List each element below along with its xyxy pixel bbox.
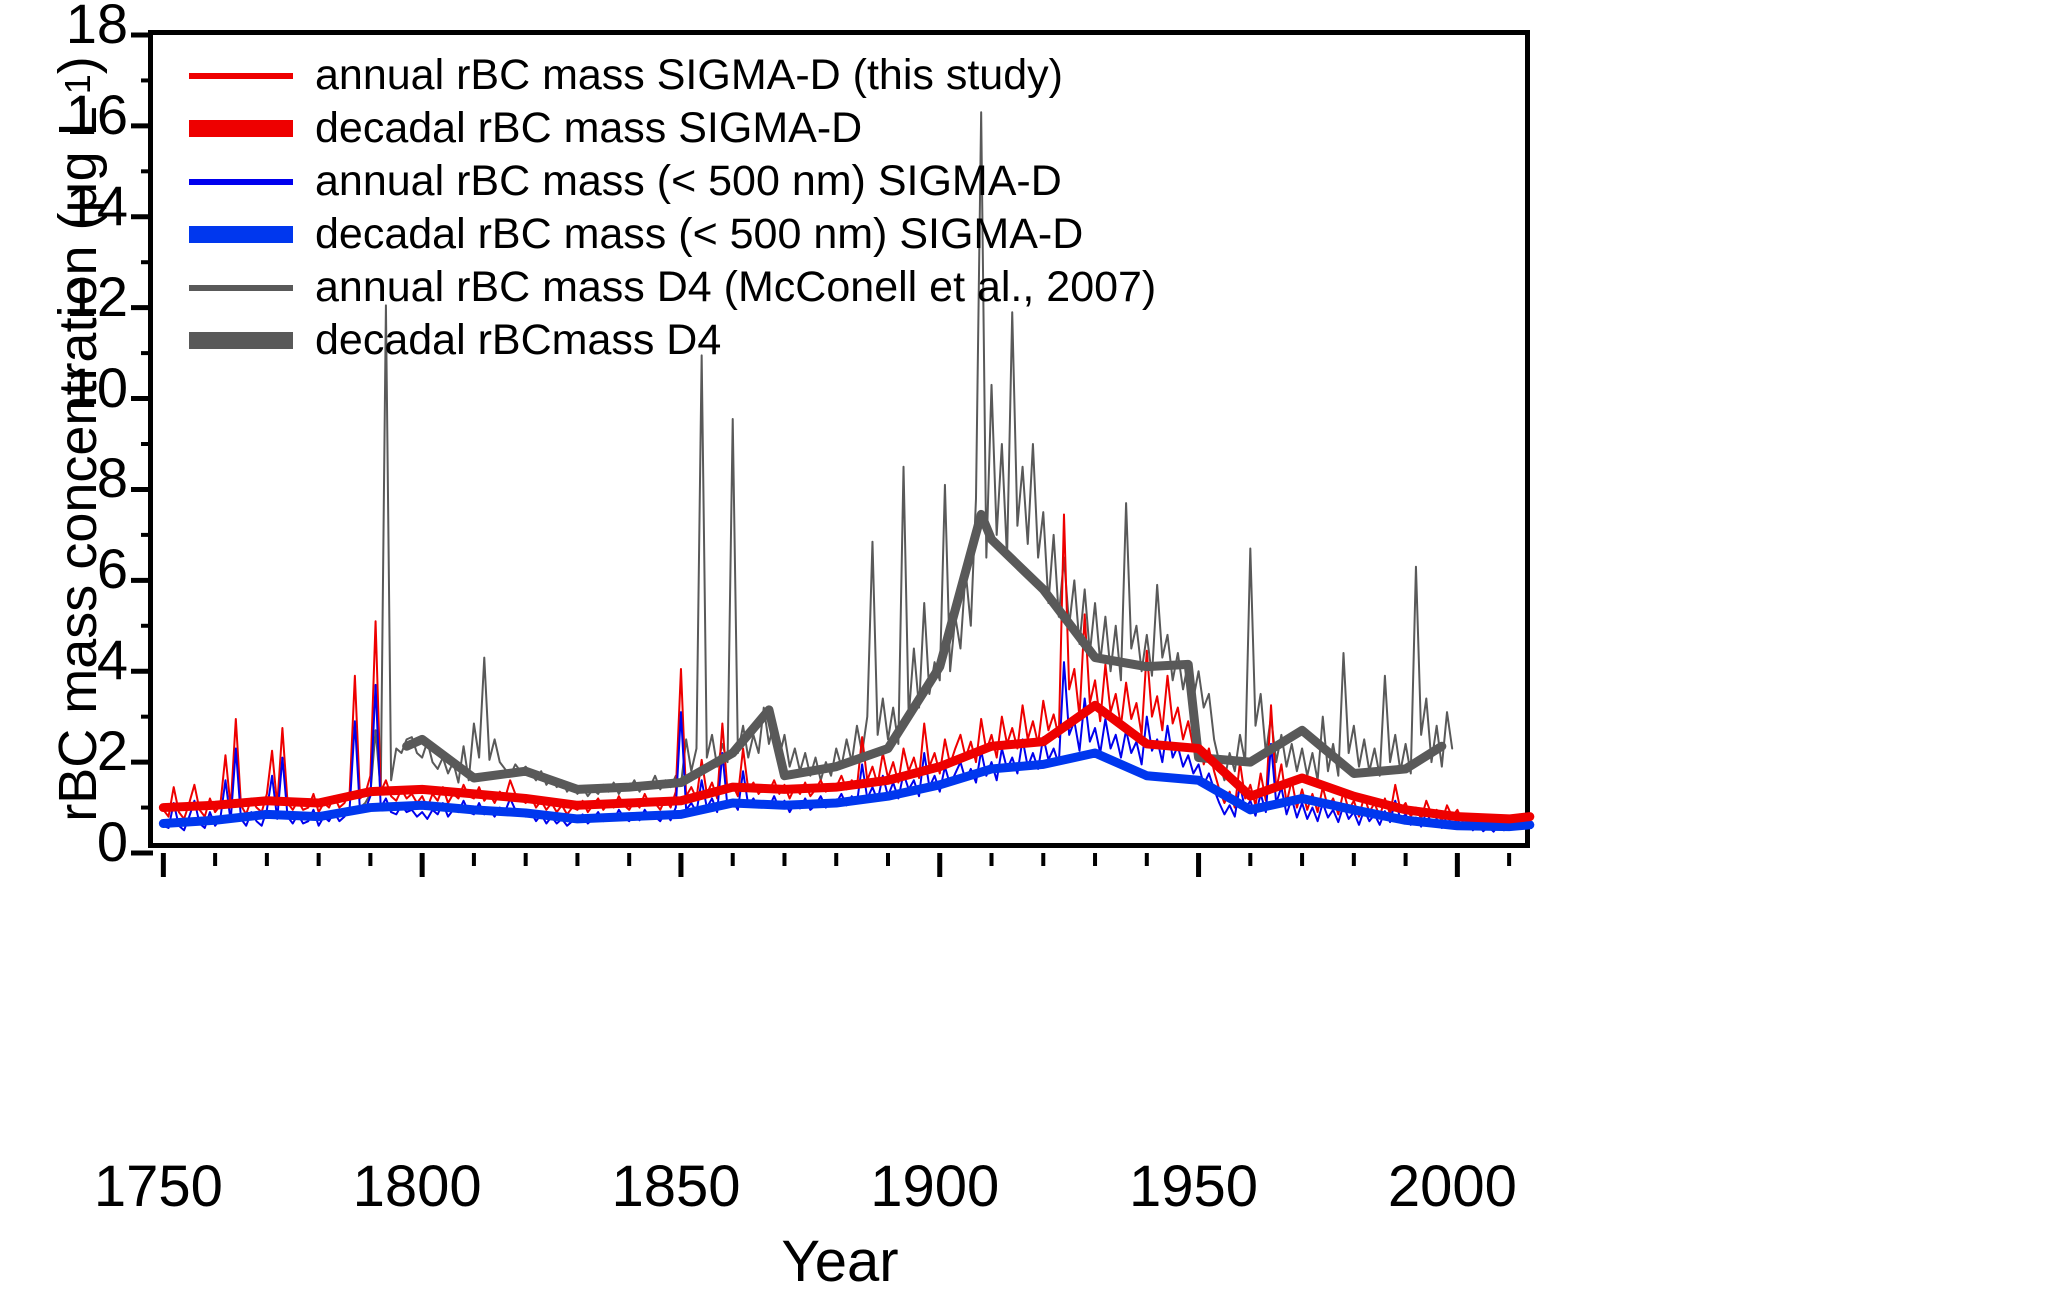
legend-color-swatch <box>189 285 293 291</box>
x-axis-title: Year <box>0 1228 1680 1295</box>
legend-item[interactable]: annual rBC mass SIGMA-D (this study) <box>189 49 1369 102</box>
x-axis-tick-label: 1750 <box>48 1158 268 1216</box>
series-line <box>407 514 1442 789</box>
y-axis-tick-label: 12 <box>8 269 128 325</box>
x-axis-tick-label: 2000 <box>1342 1158 1562 1216</box>
series-line <box>163 514 1529 825</box>
figure-rbc-timeseries: rBC mass concentration (μg L-1) 18161412… <box>0 0 2067 1314</box>
y-axis-tick-labels: 181614121086420 <box>0 0 128 1314</box>
legend-item[interactable]: annual rBC mass (< 500 nm) SIGMA-D <box>189 155 1369 208</box>
plot-area: annual rBC mass SIGMA-D (this study)deca… <box>148 30 1530 848</box>
legend-item-label: annual rBC mass D4 (McConell et al., 200… <box>315 266 1156 309</box>
legend-item-label: decadal rBC mass (< 500 nm) SIGMA-D <box>315 213 1083 256</box>
legend-color-swatch <box>189 332 293 349</box>
legend-item[interactable]: decadal rBCmass D4 <box>189 314 1369 367</box>
y-axis-tick-label: 6 <box>8 541 128 597</box>
legend-item-label: decadal rBCmass D4 <box>315 319 721 362</box>
y-axis-tick-label: 0 <box>8 814 128 870</box>
x-axis-ticks <box>163 853 1509 877</box>
y-axis-tick-label: 14 <box>8 178 128 234</box>
y-axis-tick-label: 16 <box>8 87 128 143</box>
legend-item[interactable]: decadal rBC mass (< 500 nm) SIGMA-D <box>189 208 1369 261</box>
y-axis-tick-label: 2 <box>8 723 128 779</box>
y-axis-tick-label: 10 <box>8 360 128 416</box>
legend-item-label: decadal rBC mass SIGMA-D <box>315 107 862 150</box>
y-axis-tick-label: 4 <box>8 632 128 688</box>
legend-item[interactable]: annual rBC mass D4 (McConell et al., 200… <box>189 261 1369 314</box>
legend-color-swatch <box>189 73 293 79</box>
x-axis-tick-label: 1950 <box>1084 1158 1304 1216</box>
legend-color-swatch <box>189 226 293 243</box>
y-axis-ticks <box>131 35 153 853</box>
legend-item[interactable]: decadal rBC mass SIGMA-D <box>189 102 1369 155</box>
legend-item-label: annual rBC mass SIGMA-D (this study) <box>315 54 1063 97</box>
legend-color-swatch <box>189 120 293 137</box>
x-axis-tick-label: 1900 <box>825 1158 1045 1216</box>
legend-color-swatch <box>189 179 293 185</box>
y-axis-tick-label: 8 <box>8 450 128 506</box>
legend: annual rBC mass SIGMA-D (this study)deca… <box>189 49 1369 367</box>
x-axis-tick-label: 1800 <box>307 1158 527 1216</box>
y-axis-tick-label: 18 <box>8 0 128 52</box>
x-axis-tick-label: 1850 <box>566 1158 786 1216</box>
legend-item-label: annual rBC mass (< 500 nm) SIGMA-D <box>315 160 1062 203</box>
